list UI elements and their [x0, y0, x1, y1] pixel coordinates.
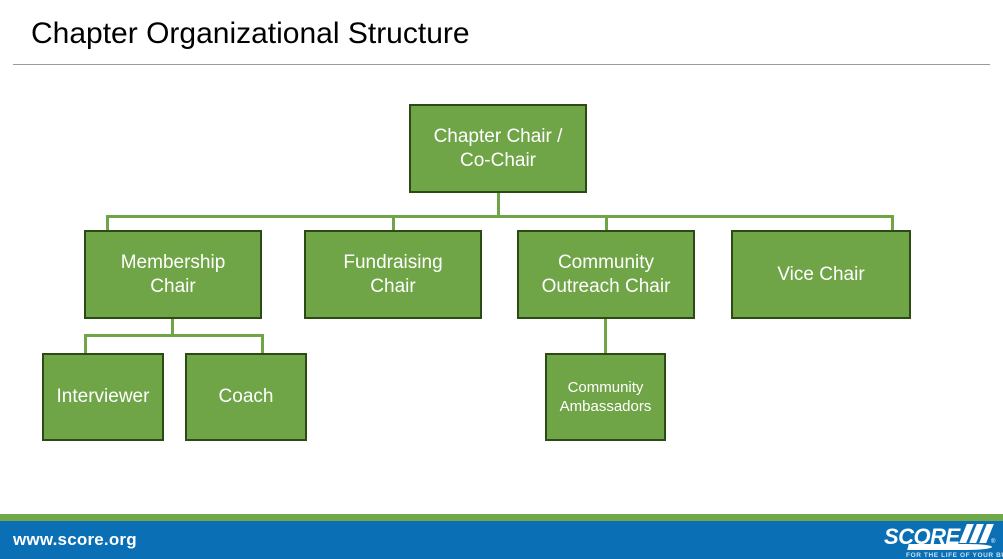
- footer-accent-stripe: [0, 514, 1003, 521]
- org-node-membership-chair[interactable]: Membership Chair: [84, 230, 262, 319]
- connector-drop-community-ambassadors: [604, 318, 607, 355]
- connector-level1-bus: [106, 215, 894, 218]
- score-logo-swoosh-icon: [907, 544, 992, 550]
- score-logo-registered-mark: ®: [991, 539, 995, 545]
- score-logo-tagline: FOR THE LIFE OF YOUR BUSINESS: [906, 552, 1003, 559]
- footer-bar: [0, 521, 1003, 559]
- org-node-label: Coach: [219, 385, 274, 409]
- connector-drop-coach: [261, 334, 264, 355]
- connector-chapter-chair-drop: [497, 192, 500, 217]
- org-node-community-outreach-chair[interactable]: Community Outreach Chair: [517, 230, 695, 319]
- org-node-coach[interactable]: Coach: [185, 353, 307, 441]
- connector-drop-interviewer: [84, 334, 87, 355]
- connector-level2-bus: [84, 334, 264, 337]
- org-node-community-ambassadors[interactable]: Community Ambassadors: [545, 353, 666, 441]
- org-node-fundraising-chair[interactable]: Fundraising Chair: [304, 230, 482, 319]
- org-node-vice-chair[interactable]: Vice Chair: [731, 230, 911, 319]
- org-node-label: Membership Chair: [121, 251, 226, 299]
- org-node-label: Community Outreach Chair: [542, 251, 671, 299]
- footer-website-link[interactable]: www.score.org: [13, 530, 137, 550]
- org-node-label: Vice Chair: [777, 263, 864, 287]
- score-logo: SCORE ® FOR THE LIFE OF YOUR BUSINESS: [884, 522, 996, 559]
- org-node-label: Community Ambassadors: [560, 378, 652, 416]
- org-node-label: Fundraising Chair: [343, 251, 442, 299]
- title-divider: [13, 64, 990, 65]
- org-node-label: Interviewer: [57, 385, 150, 409]
- slide-canvas: Chapter Organizational Structure Chapter…: [0, 0, 1003, 559]
- org-node-interviewer[interactable]: Interviewer: [42, 353, 164, 441]
- org-node-chapter-chair[interactable]: Chapter Chair / Co-Chair: [409, 104, 587, 193]
- page-title: Chapter Organizational Structure: [31, 14, 931, 54]
- org-node-label: Chapter Chair / Co-Chair: [434, 125, 563, 173]
